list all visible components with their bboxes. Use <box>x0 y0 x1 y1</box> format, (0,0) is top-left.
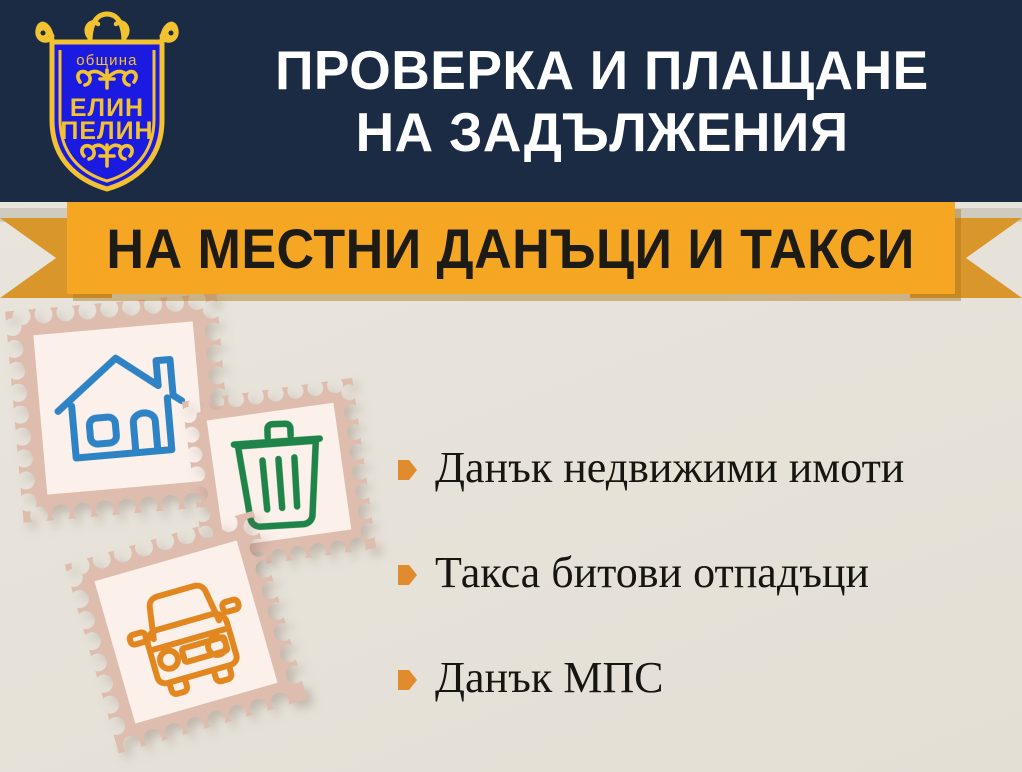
page-title: ПРОВЕРКА И ПЛАЩАНЕ НА ЗАДЪЛЖЕНИЯ <box>196 16 1008 186</box>
page-title-line-2: НА ЗАДЪЛЖЕНИЯ <box>356 101 849 163</box>
list-item[interactable]: Данък МПС <box>398 625 1018 730</box>
page-title-line-1: ПРОВЕРКА И ПЛАЩАНЕ <box>275 39 929 101</box>
arrow-right-pentagon-icon <box>398 668 417 692</box>
subtitle-ribbon: НА МЕСТНИ ДАНЪЦИ И ТАКСИ <box>0 196 1022 306</box>
ribbon-banner: НА МЕСТНИ ДАНЪЦИ И ТАКСИ <box>67 202 955 294</box>
list-item[interactable]: Данък недвижими имоти <box>398 415 1018 520</box>
poster-root: община ЕЛИН ПЕЛИН ПРОВЕРКА И ПЛАЩ <box>0 0 1022 772</box>
coat-of-arms-icon: община ЕЛИН ПЕЛИН <box>28 8 186 194</box>
svg-text:община: община <box>76 52 137 69</box>
list-item-label: Такса битови отпадъци <box>435 551 869 595</box>
svg-text:ПЕЛИН: ПЕЛИН <box>60 117 153 145</box>
arrow-right-pentagon-icon <box>398 458 417 482</box>
stamp-illustration-group <box>0 296 410 766</box>
arrow-right-pentagon-icon <box>398 563 417 587</box>
tax-type-list: Данък недвижими имоти Такса битови отпад… <box>398 415 1018 730</box>
list-item-label: Данък недвижими имоти <box>435 446 904 490</box>
ribbon-label: НА МЕСТНИ ДАНЪЦИ И ТАКСИ <box>107 216 915 281</box>
municipality-crest-logo: община ЕЛИН ПЕЛИН <box>28 8 186 194</box>
list-item[interactable]: Такса битови отпадъци <box>398 520 1018 625</box>
list-item-label: Данък МПС <box>435 656 663 700</box>
